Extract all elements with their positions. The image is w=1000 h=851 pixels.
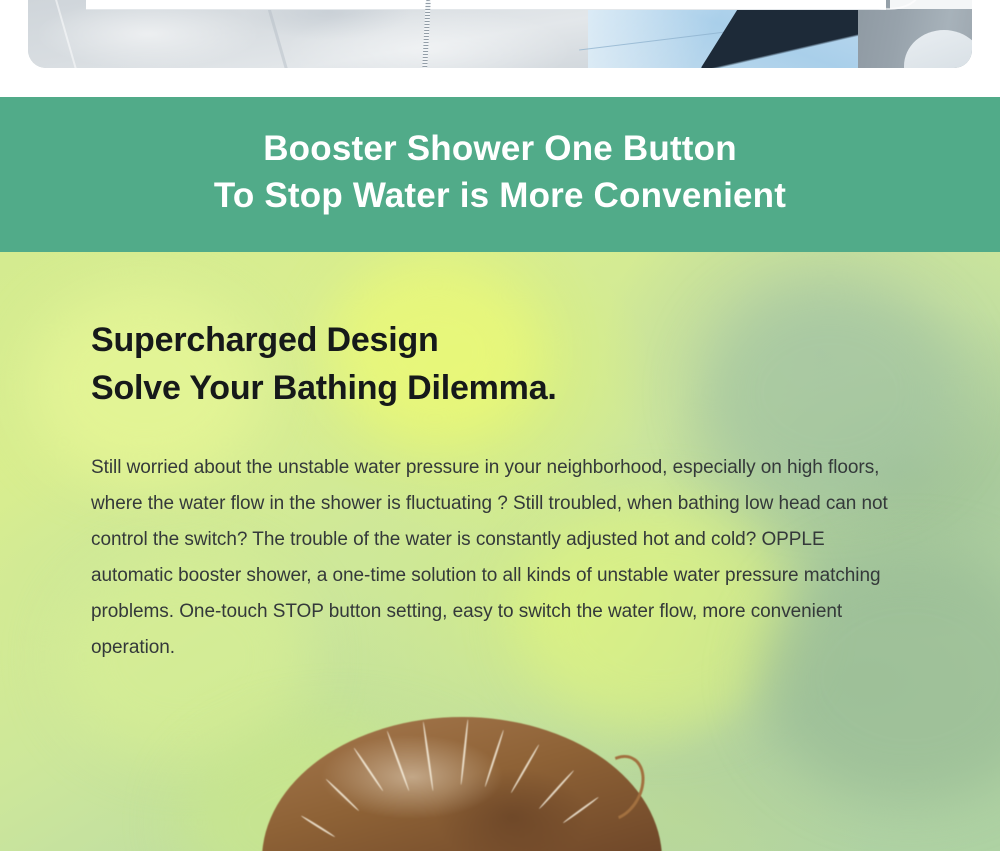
banner-line-1: Booster Shower One Button	[0, 97, 1000, 172]
hair-wisp	[325, 778, 359, 811]
hair-wisp	[301, 815, 336, 838]
section-headline: Supercharged Design Solve Your Bathing D…	[91, 316, 557, 412]
blue-tile-panel	[588, 0, 858, 68]
headline-line-1: Supercharged Design	[91, 316, 557, 364]
hair-wisp	[510, 744, 540, 793]
hair-wisp	[353, 747, 384, 791]
section-body-paragraph: Still worried about the unstable water p…	[91, 450, 891, 666]
grey-fixture-panel	[858, 0, 972, 68]
bokeh-content-section: Supercharged Design Solve Your Bathing D…	[0, 252, 1000, 851]
hair-wisp	[460, 719, 469, 785]
hair-wisp	[484, 730, 504, 788]
banner-line-2: To Stop Water is More Convenient	[0, 172, 1000, 219]
white-panel-overlay	[86, 0, 886, 10]
bathroom-photo-strip	[28, 0, 972, 68]
headline-line-2: Solve Your Bathing Dilemma.	[91, 364, 557, 412]
hair-wisp	[538, 770, 574, 810]
hair-wisp	[422, 722, 434, 792]
hair-curl	[578, 745, 655, 830]
hair-wisp	[386, 731, 410, 792]
marble-wall-panel	[28, 0, 588, 68]
product-detail-page: Booster Shower One Button To Stop Water …	[0, 0, 1000, 851]
green-headline-banner: Booster Shower One Button To Stop Water …	[0, 97, 1000, 252]
